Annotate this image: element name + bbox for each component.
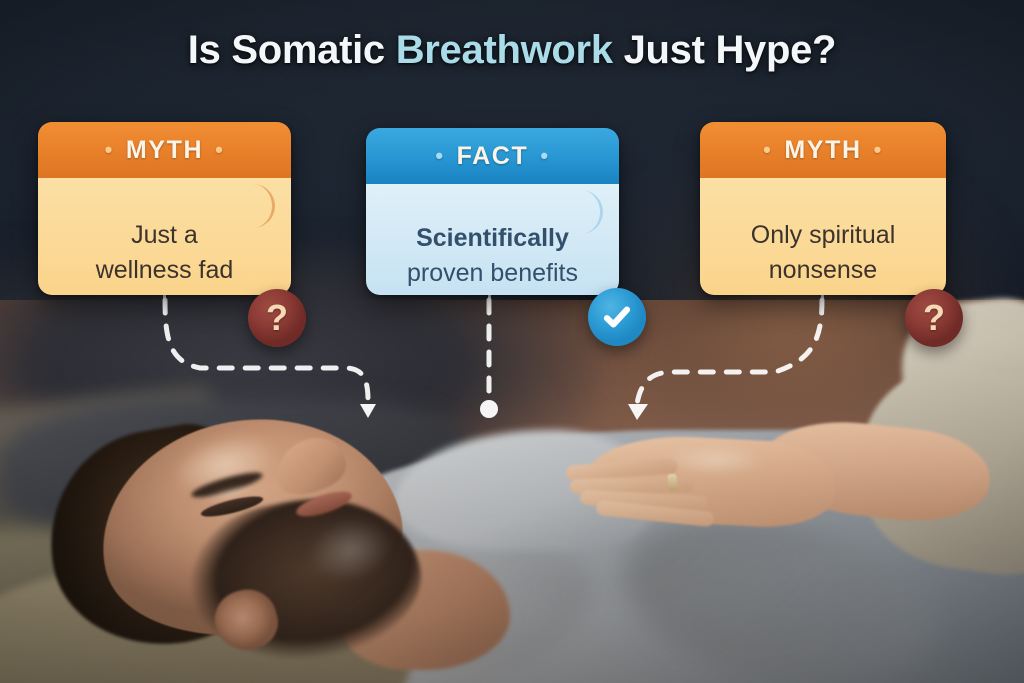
photo-vignette [0, 0, 1024, 683]
card-stem-right [821, 293, 824, 315]
card-myth-1-header: • MYTH • [38, 122, 291, 178]
card-fact-label: FACT [457, 142, 529, 171]
card-myth-2-line-1: Only spiritual [751, 219, 896, 251]
bullet-dot-right: • [874, 137, 883, 163]
card-myth-2-header: • MYTH • [700, 122, 946, 178]
title-accent-word: Breathwork [396, 28, 613, 72]
card-stem-left [163, 293, 166, 315]
title-part-1: Is Somatic [188, 28, 396, 72]
card-myth-2-label: MYTH [784, 136, 861, 165]
question-mark-glyph: ? [266, 300, 288, 336]
card-fact-line-2: proven benefits [407, 257, 578, 289]
bullet-dot-left: • [435, 143, 444, 169]
bullet-dot-left: • [763, 137, 772, 163]
question-mark-glyph: ? [923, 300, 945, 336]
bullet-dot-right: • [215, 137, 224, 163]
card-fact[interactable]: • FACT • Scientifically proven benefits [366, 128, 619, 295]
card-myth-1-body: Just a wellness fad [38, 178, 291, 295]
card-fact-header: • FACT • [366, 128, 619, 184]
question-mark-icon: ? [905, 289, 963, 347]
bullet-dot-right: • [540, 143, 549, 169]
question-mark-icon: ? [248, 289, 306, 347]
title-part-2: Just Hype? [613, 28, 836, 72]
card-myth-1-label: MYTH [126, 136, 203, 165]
card-myth-2-line-2: nonsense [769, 254, 877, 286]
card-fact-body: Scientifically proven benefits [366, 184, 619, 295]
card-myth-1[interactable]: • MYTH • Just a wellness fad [38, 122, 291, 295]
card-myth-2-body: Only spiritual nonsense [700, 178, 946, 295]
bullet-dot-left: • [105, 137, 114, 163]
card-stem-middle [488, 293, 491, 315]
check-mark-icon [588, 288, 646, 346]
card-myth-2[interactable]: • MYTH • Only spiritual nonsense [700, 122, 946, 295]
card-myth-1-line-2: wellness fad [96, 254, 234, 286]
background-photo [0, 0, 1024, 683]
infographic-canvas: Is Somatic Breathwork Just Hype? • MYTH … [0, 0, 1024, 683]
check-mark-glyph [600, 300, 634, 334]
page-title: Is Somatic Breathwork Just Hype? [0, 28, 1024, 73]
card-myth-1-line-1: Just a [131, 219, 198, 251]
card-fact-line-1: Scientifically [416, 222, 569, 254]
